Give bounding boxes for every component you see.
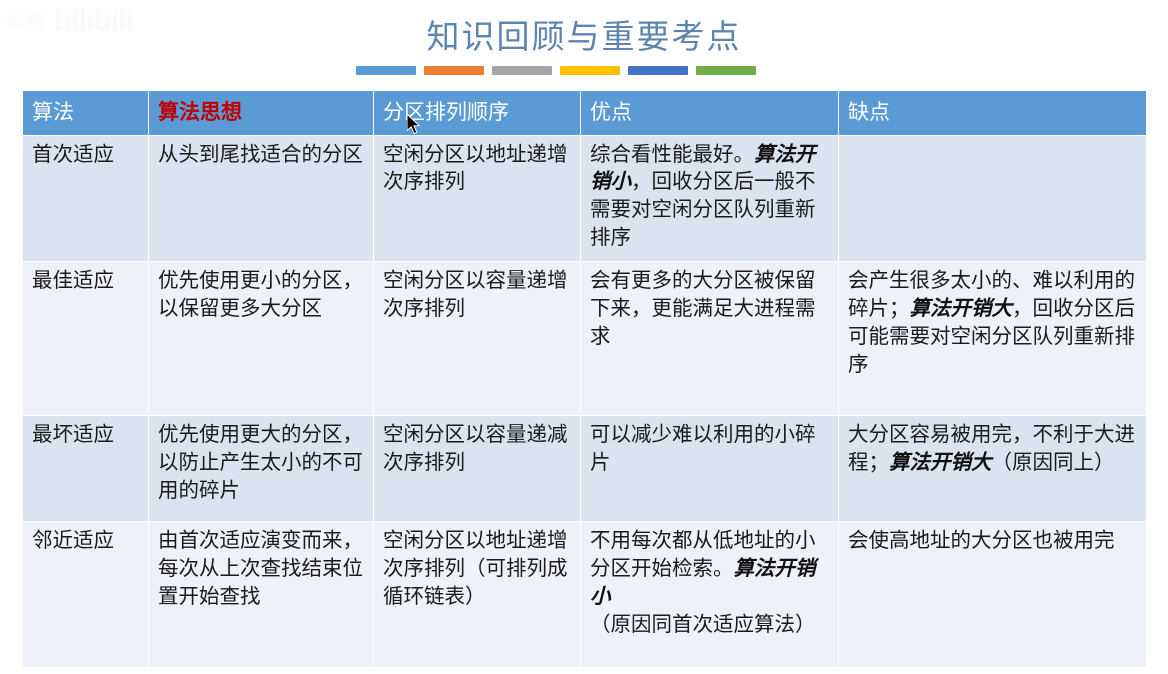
- accent-bar-group: [356, 66, 756, 75]
- bar-blue-light: [356, 66, 416, 75]
- cell-idea: 优先使用更大的分区，以防止产生太小的不可用的碎片: [149, 416, 374, 522]
- cell-idea: 由首次适应演变而来，每次从上次查找结束位置开始查找: [149, 522, 374, 668]
- table-body: 首次适应从头到尾找适合的分区空闲分区以地址递增次序排列综合看性能最好。算法开销小…: [23, 135, 1147, 668]
- cell-pros: 可以减少难以利用的小碎片: [581, 416, 839, 522]
- cell-idea: 优先使用更小的分区，以保留更多大分区: [149, 262, 374, 416]
- cell-cons: 会使高地址的大分区也被用完: [839, 522, 1147, 668]
- table-row: 最坏适应优先使用更大的分区，以防止产生太小的不可用的碎片空闲分区以容量递减次序排…: [23, 416, 1147, 522]
- cell-pros: 综合看性能最好。算法开销小，回收分区后一般不需要对空闲分区队列重新排序: [581, 135, 839, 262]
- bar-gray: [492, 66, 552, 75]
- cell-order: 空闲分区以地址递增次序排列: [374, 135, 581, 262]
- cell-cons: 大分区容易被用完，不利于大进程；算法开销大（原因同上）: [839, 416, 1147, 522]
- bar-blue-dark: [628, 66, 688, 75]
- slide-canvas: 哔哩 bilibili 知识回顾与重要考点 算法 算法思想 分区排列顺序 优点 …: [0, 0, 1168, 674]
- cell-order: 空闲分区以容量递增次序排列: [374, 262, 581, 416]
- plain-text: 可以减少难以利用的小碎片: [590, 424, 816, 474]
- col-header-algorithm: 算法: [23, 91, 149, 136]
- cell-algorithm: 邻近适应: [23, 522, 149, 668]
- cell-pros: 会有更多的大分区被保留下来，更能满足大进程需求: [581, 262, 839, 416]
- cell-cons: [839, 135, 1147, 262]
- col-header-cons: 缺点: [839, 91, 1147, 136]
- cell-algorithm: 最佳适应: [23, 262, 149, 416]
- col-header-order: 分区排列顺序: [374, 91, 581, 136]
- plain-text: 会使高地址的大分区也被用完: [848, 530, 1115, 552]
- table-header-row: 算法 算法思想 分区排列顺序 优点 缺点: [23, 91, 1147, 136]
- table-row: 首次适应从头到尾找适合的分区空闲分区以地址递增次序排列综合看性能最好。算法开销小…: [23, 135, 1147, 262]
- col-header-pros: 优点: [581, 91, 839, 136]
- cell-order: 空闲分区以地址递增次序排列（可排列成循环链表）: [374, 522, 581, 668]
- cell-order: 空闲分区以容量递减次序排列: [374, 416, 581, 522]
- cell-idea: 从头到尾找适合的分区: [149, 135, 374, 262]
- comparison-table-wrapper: 算法 算法思想 分区排列顺序 优点 缺点 首次适应从头到尾找适合的分区空闲分区以…: [22, 90, 1146, 668]
- plain-text: 综合看性能最好。: [590, 144, 754, 166]
- page-title: 知识回顾与重要考点: [0, 10, 1168, 58]
- table-row: 最佳适应优先使用更小的分区，以保留更多大分区空闲分区以容量递增次序排列会有更多的…: [23, 262, 1147, 416]
- bar-green: [696, 66, 756, 75]
- cell-algorithm: 首次适应: [23, 135, 149, 262]
- table-head: 算法 算法思想 分区排列顺序 优点 缺点: [23, 91, 1147, 136]
- emphasis-text: 算法开销大: [910, 298, 1013, 320]
- plain-text: （原因同首次适应算法）: [590, 614, 816, 636]
- plain-text: （原因同上）: [992, 452, 1115, 474]
- cell-cons: 会产生很多太小的、难以利用的碎片；算法开销大，回收分区后可能需要对空闲分区队列重…: [839, 262, 1147, 416]
- algorithm-comparison-table: 算法 算法思想 分区排列顺序 优点 缺点 首次适应从头到尾找适合的分区空闲分区以…: [22, 90, 1147, 668]
- table-row: 邻近适应由首次适应演变而来，每次从上次查找结束位置开始查找空闲分区以地址递增次序…: [23, 522, 1147, 668]
- bar-yellow: [560, 66, 620, 75]
- bar-orange: [424, 66, 484, 75]
- plain-text: 会有更多的大分区被保留下来，更能满足大进程需求: [590, 270, 816, 348]
- emphasis-text: 算法开销大: [889, 452, 992, 474]
- cell-algorithm: 最坏适应: [23, 416, 149, 522]
- col-header-idea: 算法思想: [149, 91, 374, 136]
- cell-pros: 不用每次都从低地址的小分区开始检索。算法开销小（原因同首次适应算法）: [581, 522, 839, 668]
